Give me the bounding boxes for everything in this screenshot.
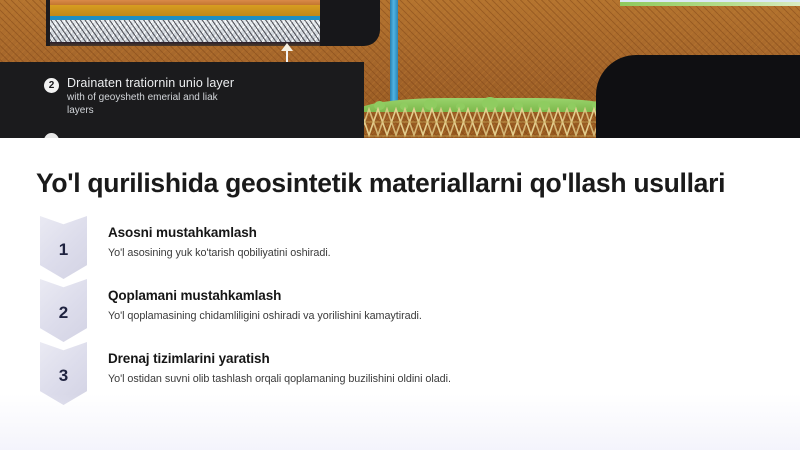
step-heading: Drenaj tizimlarini yaratish [108,351,758,366]
vertical-drain-pipe [390,0,398,112]
callout-title: Drainaten tratiornin unio layer [67,76,344,90]
steps-list: 1 Asosni mustahkamlash Yo'l asosining yu… [36,216,776,405]
dark-mass-right [596,55,800,138]
step-heading: Asosni mustahkamlash [108,225,758,240]
geotextile-layer [46,20,329,42]
road-layer-stack [46,0,329,46]
list-item[interactable]: 2 Qoplamani mustahkamlash Yo'l qoplamasi… [36,279,776,342]
ground-vegetation-line-right [620,2,800,6]
step-description: Yo'l qoplamasining chidamliligini oshira… [108,310,758,322]
list-item[interactable]: 3 Drenaj tizimlarini yaratish Yo'l ostid… [36,342,776,405]
step-number: 1 [59,238,68,258]
callout-number-badge: 2 [44,78,59,93]
callout-text-block: Drainaten tratiornin unio layer with of … [67,76,344,117]
list-item[interactable]: 1 Asosni mustahkamlash Yo'l asosining yu… [36,216,776,279]
step-body: Drenaj tizimlarini yaratish Yo'l ostidan… [108,351,758,385]
callout-leader-arrow-icon [281,43,293,51]
step-description: Yo'l ostidan suvni olib tashlash orqali … [108,373,758,385]
step-description: Yo'l asosining yuk ko'tarish qobiliyatin… [108,247,758,259]
step-chevron-badge: 1 [40,216,87,279]
step-chevron-badge: 3 [40,342,87,405]
step-body: Asosni mustahkamlash Yo'l asosining yuk … [108,225,758,259]
granular-base-layer [46,5,329,16]
page-title: Yo'l qurilishida geosintetik materiallar… [36,168,776,199]
infographic-page: 2 Drainaten tratiornin unio layer with o… [0,0,800,450]
road-left-edge-cap [46,0,50,46]
step-number: 3 [59,364,68,384]
callout-panel: 2 Drainaten tratiornin unio layer with o… [0,62,364,138]
step-heading: Qoplamani mustahkamlash [108,288,758,303]
callout-subtitle: with of geoysheth emerial and liak layer… [67,91,237,117]
step-body: Qoplamani mustahkamlash Yo'l qoplamasini… [108,288,758,322]
geogrid-mesh [360,107,630,138]
hero-illustration: 2 Drainaten tratiornin unio layer with o… [0,0,800,138]
step-chevron-badge: 2 [40,279,87,342]
dark-mass-middle [320,0,380,46]
step-number: 2 [59,301,68,321]
content-area: Yo'l qurilishida geosintetik materiallar… [0,138,800,450]
callout-row: 2 Drainaten tratiornin unio layer with o… [44,76,344,117]
